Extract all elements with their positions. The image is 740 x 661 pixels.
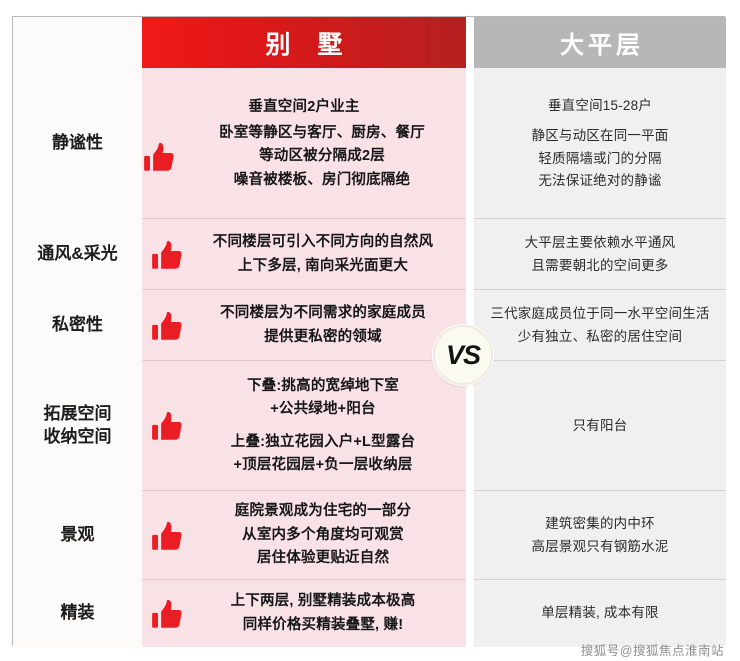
flat-cell-text: 只有阳台 bbox=[573, 415, 628, 437]
villa-cell-text: 上下两层, 别墅精装成本极高 同样价格买精装叠墅, 赚! bbox=[186, 590, 460, 637]
thumbs-up-icon bbox=[150, 410, 184, 444]
villa-line: 等动区被分隔成2层 bbox=[178, 145, 466, 168]
watermark: 搜狐号@搜狐焦点淮南站 bbox=[581, 640, 724, 659]
villa-cell-text: 下叠:挑高的宽绰地下室 +公共绿地+阳台 上叠:独立花园入户+L型露台 +顶层花… bbox=[186, 375, 460, 478]
row-label-text: 通风&采光 bbox=[37, 243, 117, 266]
villa-line: 下叠:挑高的宽绰地下室 bbox=[186, 375, 460, 398]
villa-line: 上叠:独立花园入户+L型露台 bbox=[186, 431, 460, 454]
flat-header-label: 大平层 bbox=[556, 25, 644, 60]
flat-line: 只有阳台 bbox=[573, 415, 628, 437]
table-row: 景观 庭院景观成为住宅的一部分 从室内多个角度均可 bbox=[13, 491, 726, 580]
villa-line: 提供更私密的领域 bbox=[186, 326, 460, 349]
villa-line: 不同楼层可引入不同方向的自然风 bbox=[186, 231, 460, 254]
villa-line: +顶层花园层+负一层收纳层 bbox=[186, 454, 460, 477]
villa-cell-text: 不同楼层可引入不同方向的自然风 上下多层, 南向采光面更大 bbox=[186, 231, 460, 278]
row-label: 精装 bbox=[13, 580, 142, 647]
villa-cell: 下叠:挑高的宽绰地下室 +公共绿地+阳台 上叠:独立花园入户+L型露台 +顶层花… bbox=[142, 361, 466, 491]
row-label-text: 精装 bbox=[61, 602, 95, 625]
row-label: 通风&采光 bbox=[13, 219, 142, 290]
villa-cell: 上下两层, 别墅精装成本极高 同样价格买精装叠墅, 赚! bbox=[142, 580, 466, 647]
table-row: 静谧性 垂直空间2户业主 bbox=[13, 68, 726, 219]
thumbs-up-icon bbox=[142, 141, 176, 175]
villa-line: 庭院景观成为住宅的一部分 bbox=[186, 500, 460, 523]
flat-line: 大平层主要依赖水平通风 bbox=[525, 232, 676, 254]
row-label-text: 拓展空间 收纳空间 bbox=[44, 403, 112, 449]
villa-line: 上下两层, 别墅精装成本极高 bbox=[186, 590, 460, 613]
comparison-table: 别 墅 大平层 静谧性 垂直空间2户业主 bbox=[13, 17, 726, 647]
row-label: 私密性 bbox=[13, 290, 142, 361]
flat-cell: 大平层主要依赖水平通风 且需要朝北的空间更多 bbox=[474, 219, 726, 290]
villa-line: 同样价格买精装叠墅, 赚! bbox=[186, 614, 460, 637]
villa-line: 不同楼层为不同需求的家庭成员 bbox=[186, 302, 460, 325]
flat-cell: 单层精装, 成本有限 bbox=[474, 580, 726, 647]
flat-cell: 建筑密集的内中环 高层景观只有钢筋水泥 bbox=[474, 491, 726, 580]
flat-line: 少有独立、私密的居住空间 bbox=[490, 326, 709, 348]
villa-cell-text: 卧室等静区与客厅、厨房、餐厅 等动区被分隔成2层 噪音被楼板、房门彻底隔绝 bbox=[178, 122, 466, 192]
villa-cell: 不同楼层可引入不同方向的自然风 上下多层, 南向采光面更大 bbox=[142, 219, 466, 290]
flat-cell-text: 大平层主要依赖水平通风 且需要朝北的空间更多 bbox=[525, 232, 676, 277]
villa-cell-text: 不同楼层为不同需求的家庭成员 提供更私密的领域 bbox=[186, 302, 460, 349]
flat-column-header: 大平层 bbox=[474, 17, 726, 68]
villa-line: 噪音被楼板、房门彻底隔绝 bbox=[178, 169, 466, 192]
villa-cell: 垂直空间2户业主 卧室等静区与客厅、厨房、餐厅 bbox=[142, 68, 466, 219]
row-label-text: 私密性 bbox=[52, 314, 103, 337]
villa-column-header: 别 墅 bbox=[142, 17, 466, 68]
flat-line: 静区与动区在同一平面 bbox=[532, 125, 669, 147]
villa-lead-text: 垂直空间2户业主 bbox=[142, 95, 466, 116]
table-row: 通风&采光 不同楼层可引入不同方向的自然风 上下多 bbox=[13, 219, 726, 290]
row-label: 景观 bbox=[13, 491, 142, 580]
flat-line: 高层景观只有钢筋水泥 bbox=[532, 536, 669, 558]
villa-header-label: 别 墅 bbox=[256, 25, 353, 61]
flat-cell-text: 建筑密集的内中环 高层景观只有钢筋水泥 bbox=[532, 513, 669, 558]
thumbs-up-icon bbox=[150, 310, 184, 344]
row-label: 拓展空间 收纳空间 bbox=[13, 361, 142, 491]
row-label-text: 景观 bbox=[61, 524, 95, 547]
villa-cell: 庭院景观成为住宅的一部分 从室内多个角度均可观赏 居住体验更贴近自然 bbox=[142, 491, 466, 580]
flat-lead-text: 垂直空间15-28户 bbox=[532, 95, 669, 117]
flat-cell-text: 单层精装, 成本有限 bbox=[541, 602, 659, 624]
row-label-line: 拓展空间 bbox=[44, 403, 112, 426]
villa-line: +公共绿地+阳台 bbox=[186, 398, 460, 421]
table-row: 精装 上下两层, 别墅精装成本极高 同样价格买精装 bbox=[13, 580, 726, 647]
table-frame: 别 墅 大平层 静谧性 垂直空间2户业主 bbox=[12, 16, 725, 646]
flat-cell-text: 三代家庭成员位于同一水平空间生活 少有独立、私密的居住空间 bbox=[490, 303, 709, 348]
villa-line: 从室内多个角度均可观赏 bbox=[186, 524, 460, 547]
villa-line: 上下多层, 南向采光面更大 bbox=[186, 255, 460, 278]
flat-line: 无法保证绝对的静谧 bbox=[532, 170, 669, 192]
flat-line: 建筑密集的内中环 bbox=[532, 513, 669, 535]
flat-cell: 只有阳台 bbox=[474, 361, 726, 491]
villa-line: 居住体验更贴近自然 bbox=[186, 547, 460, 570]
flat-cell: 三代家庭成员位于同一水平空间生活 少有独立、私密的居住空间 bbox=[474, 290, 726, 361]
row-label-text: 静谧性 bbox=[52, 132, 103, 155]
table-row: 拓展空间 收纳空间 bbox=[13, 361, 726, 491]
thumbs-up-icon bbox=[150, 239, 184, 273]
flat-line: 单层精装, 成本有限 bbox=[541, 602, 659, 624]
thumbs-up-icon bbox=[150, 598, 184, 632]
villa-cell-text: 庭院景观成为住宅的一部分 从室内多个角度均可观赏 居住体验更贴近自然 bbox=[186, 500, 460, 570]
flat-cell-text: 垂直空间15-28户 静区与动区在同一平面 轻质隔墙或门的分隔 无法保证绝对的静… bbox=[532, 95, 669, 192]
villa-cell: 不同楼层为不同需求的家庭成员 提供更私密的领域 bbox=[142, 290, 466, 361]
comparison-infographic: 别 墅 大平层 静谧性 垂直空间2户业主 bbox=[0, 0, 740, 661]
flat-cell: 垂直空间15-28户 静区与动区在同一平面 轻质隔墙或门的分隔 无法保证绝对的静… bbox=[474, 68, 726, 219]
row-label: 静谧性 bbox=[13, 68, 142, 219]
thumbs-up-icon bbox=[150, 520, 184, 554]
table-body: 静谧性 垂直空间2户业主 bbox=[13, 68, 726, 647]
villa-line: 卧室等静区与客厅、厨房、餐厅 bbox=[178, 122, 466, 145]
row-label-line: 收纳空间 bbox=[44, 426, 112, 449]
table-row: 私密性 不同楼层为不同需求的家庭成员 提供更私密的 bbox=[13, 290, 726, 361]
flat-line: 三代家庭成员位于同一水平空间生活 bbox=[490, 303, 709, 325]
flat-line: 且需要朝北的空间更多 bbox=[525, 255, 676, 277]
flat-line: 轻质隔墙或门的分隔 bbox=[532, 148, 669, 170]
vs-badge: VS bbox=[433, 325, 493, 385]
